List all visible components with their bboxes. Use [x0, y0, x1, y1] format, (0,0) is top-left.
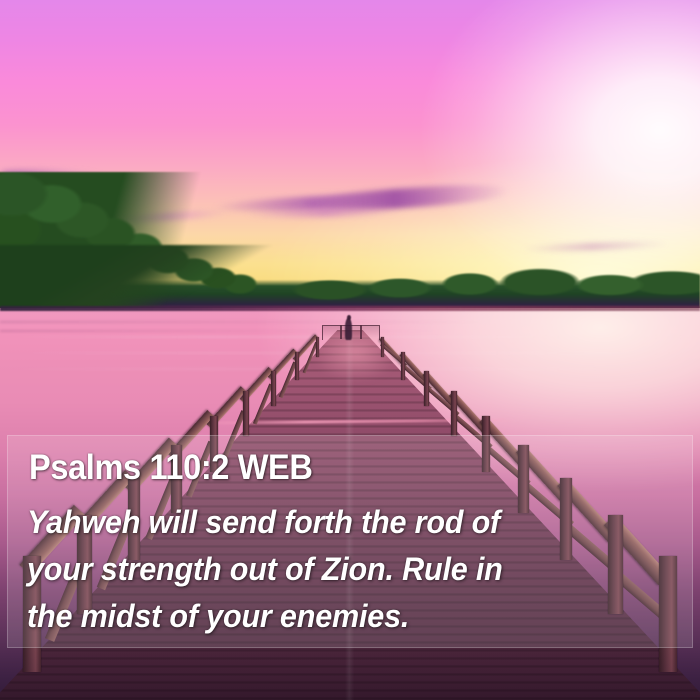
person-silhouette — [345, 318, 352, 340]
verse-reference: Psalms 110:2 WEB — [29, 449, 313, 487]
pier-end-railing-post — [360, 325, 362, 339]
pier-railing-post — [424, 371, 429, 407]
pier-end-railing-post — [340, 325, 342, 339]
verse-image-card: Psalms 110:2 WEB Yahweh will send forth … — [0, 0, 700, 700]
verse-text-line: your strength out of Zion. Rule in — [27, 546, 657, 593]
pier-railing-post — [451, 391, 457, 436]
verse-text-line: Yahweh will send forth the rod of — [27, 499, 657, 546]
pier-railing-post — [401, 352, 404, 380]
person-silhouette-head — [347, 315, 351, 320]
verse-text-line: the midst of your enemies. — [27, 593, 657, 640]
pier-railing-post — [381, 337, 383, 358]
verse-text: Yahweh will send forth the rod of your s… — [27, 499, 687, 640]
